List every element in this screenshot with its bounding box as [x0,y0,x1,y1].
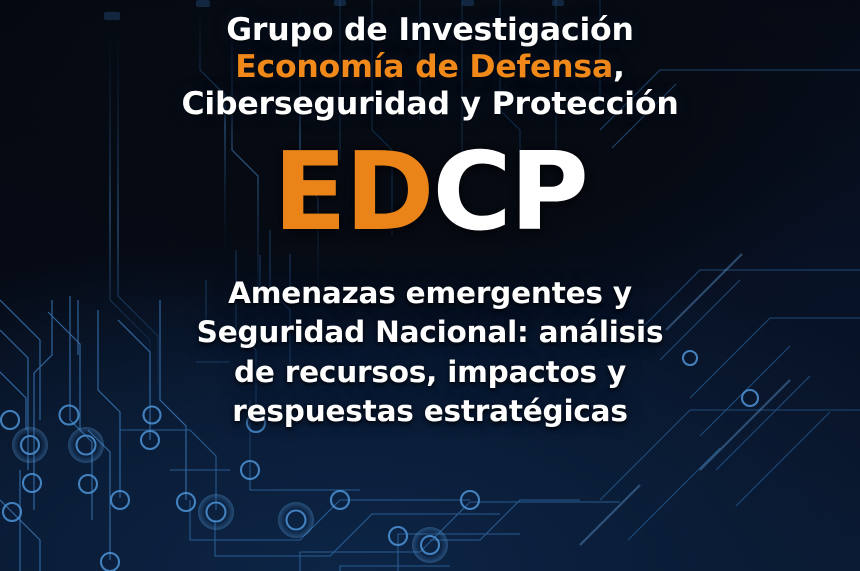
edcp-logo-ed: ED [273,130,432,255]
group-title: Grupo de Investigación Economía de Defen… [181,12,678,123]
subtitle-line-1: Amenazas emergentes y [197,274,664,313]
group-title-accent-text: Economía de Defensa [235,49,613,85]
subtitle-line-3: de recursos, impactos y [197,353,664,392]
group-title-line-2: Economía de Defensa, [181,49,678,86]
subtitle-line-2: Seguridad Nacional: análisis [197,313,664,352]
edcp-logo-cp: CP [433,130,587,255]
group-title-comma: , [613,49,625,85]
poster-subtitle: Amenazas emergentes y Seguridad Nacional… [197,274,664,431]
group-title-line-1: Grupo de Investigación [181,12,678,49]
poster-canvas: Grupo de Investigación Economía de Defen… [0,0,860,571]
poster-content: Grupo de Investigación Economía de Defen… [0,0,860,571]
group-title-line-3: Ciberseguridad y Protección [181,86,678,123]
subtitle-line-4: respuestas estratégicas [197,392,664,431]
edcp-logo: EDCP [273,141,587,245]
